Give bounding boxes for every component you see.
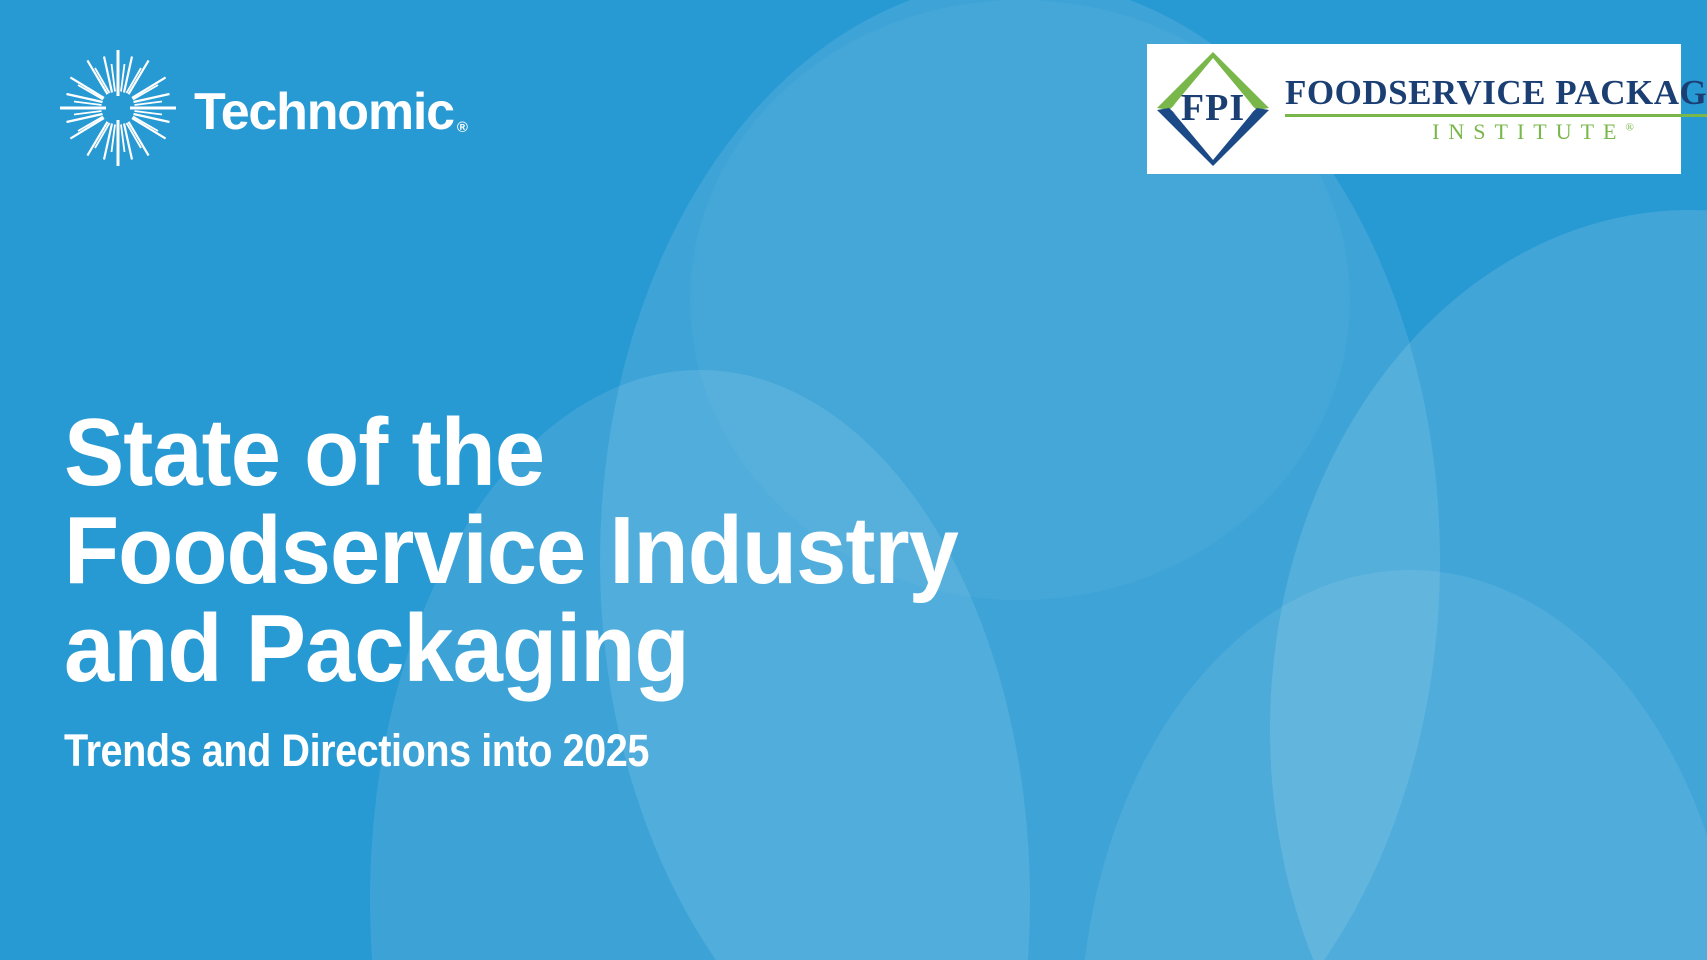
- technomic-name: Technomic: [194, 86, 454, 138]
- fpi-wordmark: FOODSERVICE PACKAGING INSTITUTE®: [1285, 75, 1707, 143]
- registered-mark: ®: [1625, 122, 1633, 134]
- title-line-1: State of the: [64, 404, 1117, 502]
- fpi-name-line1: FOODSERVICE PACKAGING: [1285, 75, 1707, 112]
- fpi-logo: FPI FOODSERVICE PACKAGING INSTITUTE®: [1147, 44, 1681, 174]
- page-title: State of the Foodservice Industry and Pa…: [64, 404, 1184, 776]
- fpi-divider-rule: [1285, 114, 1707, 117]
- fpi-diamond-icon: FPI: [1153, 48, 1273, 170]
- fpi-name-line2: INSTITUTE®: [1285, 120, 1707, 143]
- title-slide: Technomic ® FPI FOODSERVICE PACKAGING IN…: [0, 0, 1707, 960]
- fpi-institute-text: INSTITUTE: [1432, 119, 1625, 144]
- technomic-logo: Technomic ®: [58, 48, 467, 168]
- technomic-wordmark: Technomic ®: [194, 86, 467, 138]
- title-line-3: and Packaging: [64, 600, 1117, 698]
- svg-text:FPI: FPI: [1181, 87, 1245, 129]
- title-line-2: Foodservice Industry: [64, 502, 1117, 600]
- registered-mark: ®: [457, 120, 467, 135]
- page-subtitle: Trends and Directions into 2025: [64, 726, 1050, 776]
- starburst-icon: [58, 48, 178, 168]
